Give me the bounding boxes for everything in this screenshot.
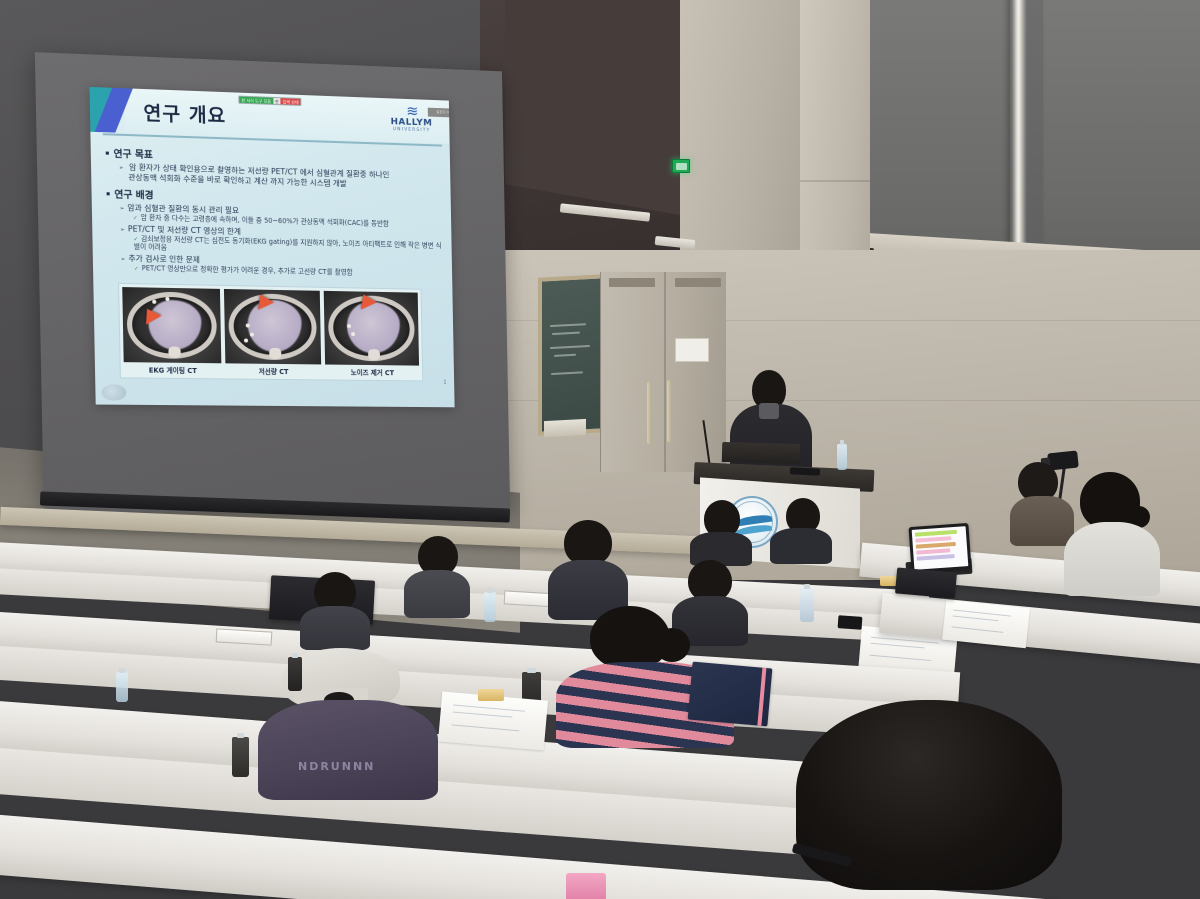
exit-sign-icon (672, 159, 690, 173)
ct-cell-3: 노이즈 제거 CT (324, 291, 420, 378)
tablet-device[interactable] (908, 523, 971, 573)
attendee-right-2 (1064, 472, 1160, 592)
ct-cell-2: 저선량 CT (224, 289, 321, 376)
attendee-mid-3 (548, 520, 628, 616)
attendee-mid-2 (404, 536, 470, 612)
ime-toolbar-white: 한 (273, 98, 281, 104)
water-bottle-near-2 (288, 657, 302, 691)
lecture-hall-scene: 연구 개요 한 서식 도구 모음 한 입력 상태 ≋ HALLYM UNIVER… (0, 0, 1200, 899)
attendee-torso (404, 570, 470, 618)
presenter-laptop (722, 442, 800, 464)
notebook-near[interactable] (688, 662, 773, 727)
ime-toolbar-red: 입력 상태 (281, 98, 301, 105)
attendee-far-1 (690, 500, 752, 562)
water-bottle-mid-2 (800, 588, 814, 622)
chalk-tray (544, 419, 586, 437)
ct-cell-1: EKG 게이팅 CT (122, 287, 221, 375)
ct-image-denoised (324, 291, 419, 366)
attendee-hair-bun (654, 628, 690, 662)
water-bottle-near-1 (232, 737, 249, 777)
attendee-torso (300, 606, 370, 650)
jacket-print: NDRUNNN (298, 760, 388, 770)
institute-logo-icon (101, 384, 126, 400)
pink-cup (566, 873, 606, 899)
ct-caption-3: 노이즈 제거 CT (325, 367, 419, 378)
presenter-water-bottle (837, 444, 847, 470)
attendee-foreground (786, 700, 1076, 899)
attendee-torso (258, 700, 438, 800)
attendee-mid-1 (300, 572, 370, 644)
chalkboard (538, 274, 604, 435)
water-bottle-mid-1 (484, 592, 496, 622)
attendee-torso (770, 528, 832, 564)
phone-on-desk (838, 615, 863, 630)
ct-image-low-dose (224, 289, 321, 364)
attendee-near-cap: NDRUNNN (258, 648, 438, 798)
presentation-slide: 연구 개요 한 서식 도구 모음 한 입력 상태 ≋ HALLYM UNIVER… (90, 87, 455, 407)
door-notice-sign (675, 338, 709, 362)
water-bottle-left-far (116, 672, 128, 702)
ct-image-row: EKG 게이팅 CT 저선량 CT (118, 283, 423, 382)
slide-page-number: 1 (443, 380, 446, 386)
podium-remote (790, 467, 820, 476)
snack-near (478, 689, 504, 701)
dark-ceiling-panel-2 (505, 0, 685, 216)
projection-screen: 연구 개요 한 서식 도구 모음 한 입력 상태 ≋ HALLYM UNIVER… (35, 52, 510, 512)
ct-caption-1: EKG 게이팅 CT (124, 364, 222, 375)
attendee-far-2 (770, 498, 832, 562)
attendee-torso (1064, 522, 1160, 596)
ct-image-ekg-gated (122, 287, 221, 363)
handout-right-2 (942, 600, 1030, 649)
ct-caption-2: 저선량 CT (225, 365, 321, 376)
slide-title: 연구 개요 (143, 98, 226, 128)
ime-toolbar-green: 한 서식 도구 모음 (239, 97, 273, 104)
monitor-middle-2 (895, 567, 957, 598)
presenter-collar (759, 403, 779, 419)
